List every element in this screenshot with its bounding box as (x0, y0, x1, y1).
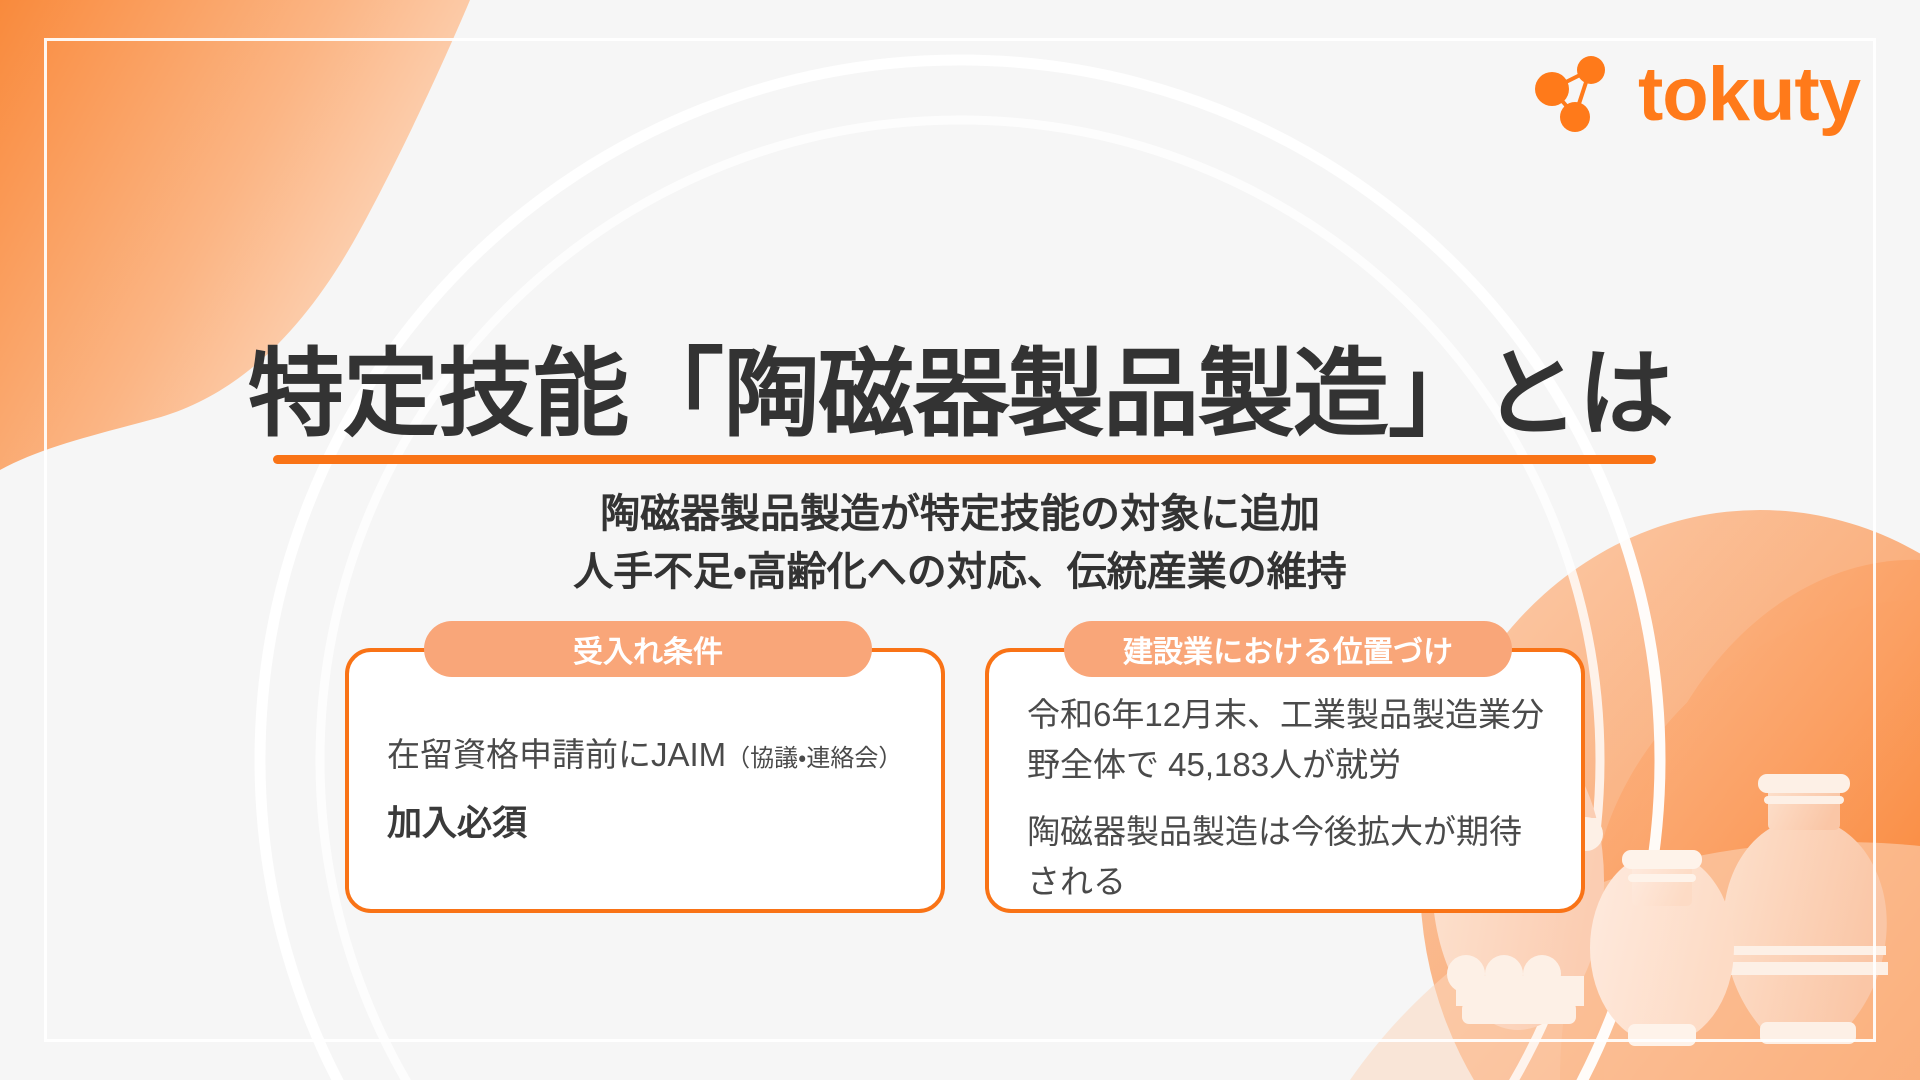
page-title: 特定技能「陶磁器製品製造」とは (248, 342, 1668, 448)
card-badge-position-label: 建設業における位置づけ (1123, 627, 1453, 671)
card-position-para-1: 令和6年12月末、工業製品製造業分野全体で 45,183人が就労 (1027, 690, 1553, 789)
card-badge-requirements-label: 受入れ条件 (573, 627, 723, 671)
brand-name: tokuty (1638, 57, 1860, 133)
card-badge-requirements: 受入れ条件 (424, 621, 872, 677)
network-nodes-icon (1530, 56, 1616, 134)
title-underline-rule (273, 455, 1656, 464)
slide-canvas: tokuty 特定技能「陶磁器製品製造」とは 陶磁器製品製造が特定技能の対象に追… (0, 0, 1920, 1080)
subtitle-block: 陶磁器製品製造が特定技能の対象に追加 人手不足・高齢化への対応、伝統産業の維持 (0, 485, 1920, 601)
card-badge-position: 建設業における位置づけ (1064, 621, 1512, 677)
card-position-body: 令和6年12月末、工業製品製造業分野全体で 45,183人が就労 陶磁器製品製造… (1027, 690, 1553, 906)
card-requirements-note: （協議・連絡会） (726, 745, 902, 772)
card-position: 令和6年12月末、工業製品製造業分野全体で 45,183人が就労 陶磁器製品製造… (985, 648, 1585, 913)
card-requirements-line-1: 在留資格申請前にJAIM（協議・連絡会） (387, 730, 913, 780)
subtitle-line-2: 人手不足・高齢化への対応、伝統産業の維持 (0, 543, 1920, 601)
card-requirements-body: 在留資格申請前にJAIM（協議・連絡会） 加入必須 (387, 730, 913, 850)
card-requirements: 在留資格申請前にJAIM（協議・連絡会） 加入必須 (345, 648, 945, 913)
card-requirements-lead: 在留資格申請前にJAIM (387, 736, 726, 773)
slide-content: 特定技能「陶磁器製品製造」とは 陶磁器製品製造が特定技能の対象に追加 人手不足・… (0, 0, 1920, 1080)
subtitle-line-1: 陶磁器製品製造が特定技能の対象に追加 (0, 485, 1920, 543)
card-position-para-2: 陶磁器製品製造は今後拡大が期待される (1027, 807, 1553, 906)
card-requirements-strong: 加入必須 (387, 798, 913, 851)
brand-logo[interactable]: tokuty (1530, 56, 1860, 134)
